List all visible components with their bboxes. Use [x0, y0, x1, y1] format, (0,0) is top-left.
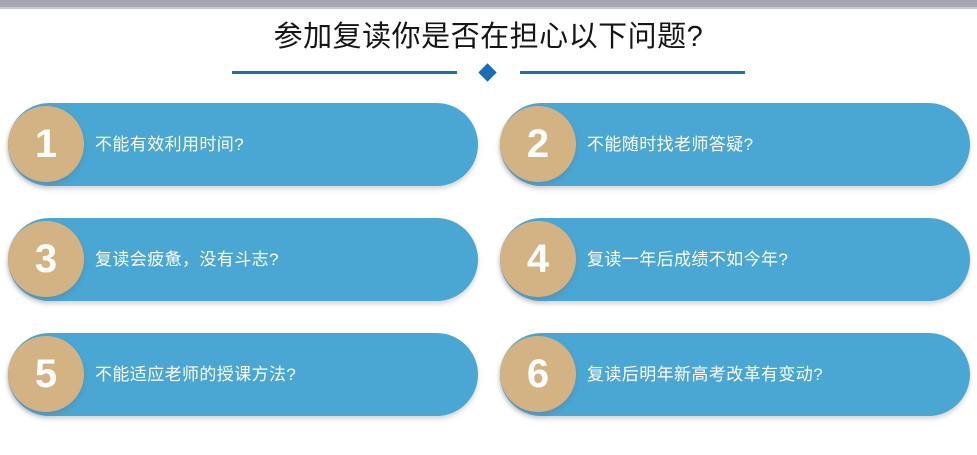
card-number-label: 1 — [8, 106, 84, 182]
card-question-label: 复读后明年新高考改革有变动? — [587, 333, 957, 416]
card-number-label: 5 — [8, 336, 84, 412]
question-card-2[interactable]: 2 不能随时找老师答疑? — [492, 96, 970, 196]
card-number-badge: 5 — [8, 336, 84, 412]
top-gray-band — [0, 0, 977, 7]
title-divider — [232, 65, 745, 79]
card-number-badge: 3 — [8, 221, 84, 297]
divider-line-right — [520, 71, 745, 74]
card-number-label: 4 — [500, 221, 576, 297]
question-card-grid: 1 不能有效利用时间? 2 不能随时找老师答疑? 3 复读会疲惫，没有斗志? 4… — [0, 96, 977, 436]
card-question-label: 不能适应老师的授课方法? — [95, 333, 465, 416]
card-number-badge: 1 — [8, 106, 84, 182]
card-number-badge: 4 — [500, 221, 576, 297]
card-question-label: 复读一年后成绩不如今年? — [587, 218, 957, 301]
page-title: 参加复读你是否在担心以下问题? — [0, 17, 977, 57]
question-card-3[interactable]: 3 复读会疲惫，没有斗志? — [0, 211, 478, 311]
question-card-4[interactable]: 4 复读一年后成绩不如今年? — [492, 211, 970, 311]
card-number-label: 2 — [500, 106, 576, 182]
header: 参加复读你是否在担心以下问题? — [0, 9, 977, 87]
question-card-6[interactable]: 6 复读后明年新高考改革有变动? — [492, 326, 970, 426]
card-question-label: 不能有效利用时间? — [95, 103, 465, 186]
card-number-label: 6 — [500, 336, 576, 412]
card-number-badge: 6 — [500, 336, 576, 412]
diamond-icon — [478, 63, 496, 81]
card-number-badge: 2 — [500, 106, 576, 182]
card-question-label: 不能随时找老师答疑? — [587, 103, 957, 186]
question-card-1[interactable]: 1 不能有效利用时间? — [0, 96, 478, 196]
question-card-5[interactable]: 5 不能适应老师的授课方法? — [0, 326, 478, 426]
card-question-label: 复读会疲惫，没有斗志? — [95, 218, 465, 301]
card-number-label: 3 — [8, 221, 84, 297]
divider-line-left — [232, 71, 457, 74]
